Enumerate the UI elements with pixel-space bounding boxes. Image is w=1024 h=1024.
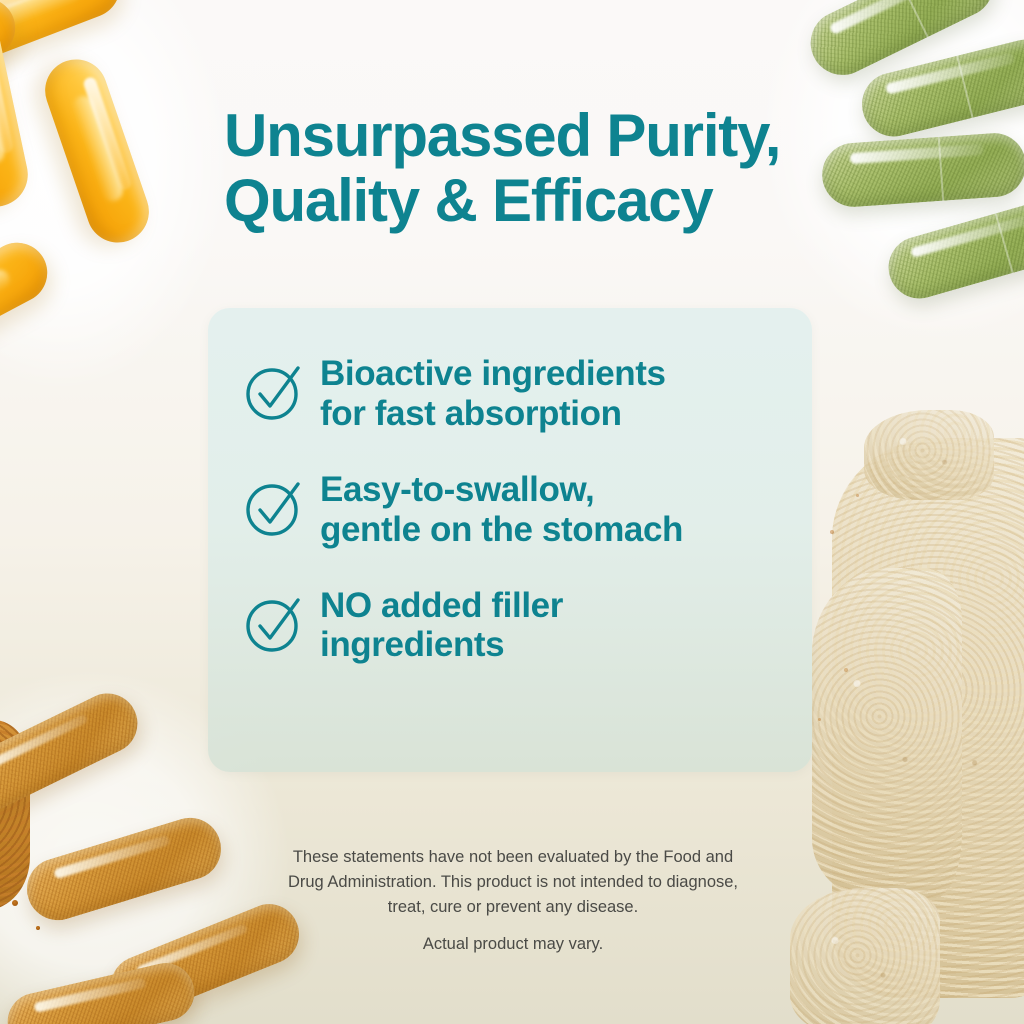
benefits-list: Bioactive ingredients for fast absorptio…: [244, 352, 788, 665]
list-item: Bioactive ingredients for fast absorptio…: [244, 352, 788, 434]
list-item-line-2: for fast absorption: [320, 394, 666, 434]
fda-disclaimer: These statements have not been evaluated…: [232, 845, 794, 919]
check-circle-icon: [244, 352, 320, 422]
list-item-line-1: Bioactive ingredients: [320, 354, 666, 394]
page-title: Unsurpassed Purity, Quality & Efficacy: [224, 104, 844, 234]
headline-line-1: Unsurpassed Purity,: [224, 102, 780, 169]
product-variation-note: Actual product may vary.: [232, 935, 794, 954]
list-item-text: NO added filler ingredients: [320, 584, 563, 666]
disclaimer-line-3: treat, cure or prevent any disease.: [232, 895, 794, 920]
list-item: NO added filler ingredients: [244, 584, 788, 666]
list-item-line-1: Easy-to-swallow,: [320, 470, 683, 510]
check-circle-icon: [244, 468, 320, 538]
headline-line-2: Quality & Efficacy: [224, 169, 844, 234]
list-item-line-2: gentle on the stomach: [320, 510, 683, 550]
list-item-line-1: NO added filler: [320, 586, 563, 626]
disclaimer-line-1: These statements have not been evaluated…: [232, 845, 794, 870]
list-item: Easy-to-swallow, gentle on the stomach: [244, 468, 788, 550]
decor-amber-softgels-top-left: [0, 0, 230, 400]
benefits-card: Bioactive ingredients for fast absorptio…: [208, 308, 812, 772]
list-item-text: Bioactive ingredients for fast absorptio…: [320, 352, 666, 434]
product-benefits-graphic: Unsurpassed Purity, Quality & Efficacy B…: [0, 0, 1024, 1024]
list-item-text: Easy-to-swallow, gentle on the stomach: [320, 468, 683, 550]
list-item-line-2: ingredients: [320, 625, 563, 665]
disclaimer-line-2: Drug Administration. This product is not…: [232, 870, 794, 895]
check-circle-icon: [244, 584, 320, 654]
decor-cream-powder-pile-right: [804, 418, 1024, 1018]
